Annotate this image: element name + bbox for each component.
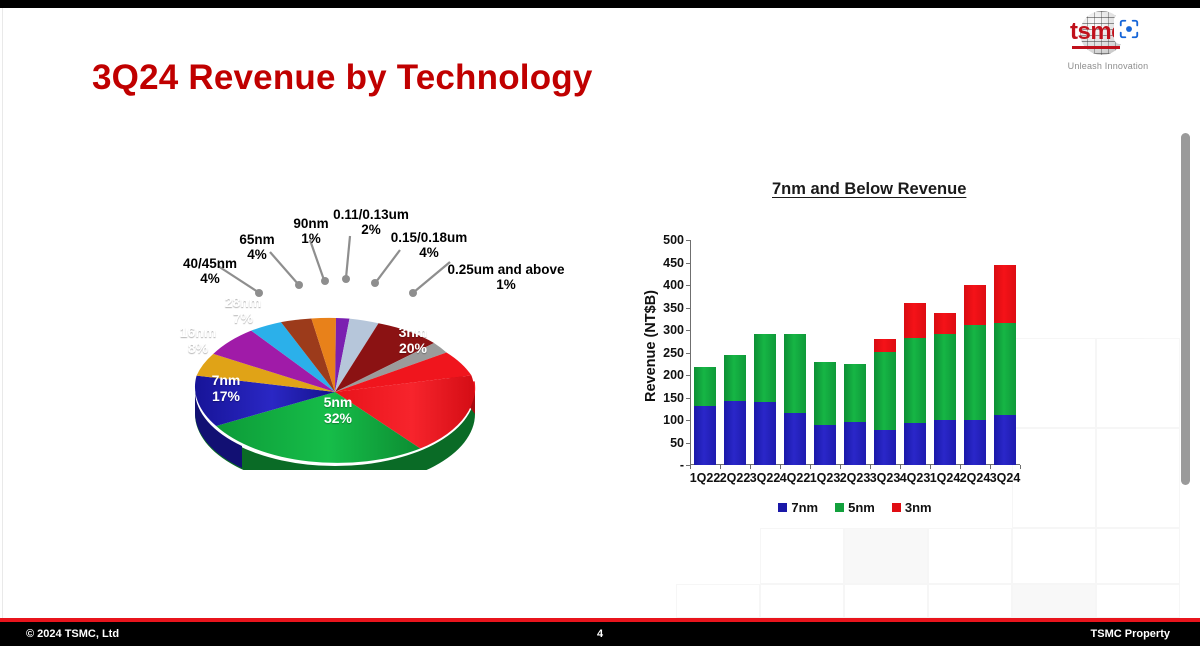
bar-segment-7nm: [964, 420, 986, 465]
x-axis-tick-label-2q24: 2Q24: [960, 471, 991, 485]
x-axis-tick-mark: [1020, 465, 1021, 469]
bar-segment-7nm: [874, 430, 896, 465]
bar-segment-3nm: [904, 303, 926, 338]
bar-column-1q22[interactable]: [694, 367, 716, 465]
bar-segment-5nm: [904, 338, 926, 423]
x-axis-tick-label-4q22: 4Q22: [780, 471, 811, 485]
pie-label-5nm: 5nm32%: [305, 395, 371, 426]
bar-segment-5nm: [754, 334, 776, 402]
pie-chart-revenue-by-technology: 40/45nm4% 65nm4% 90nm1% 0.11/0.13um2% 0.…: [150, 200, 590, 470]
pie-label-28nm: 28nm7%: [212, 295, 274, 326]
y-axis-tick-label: 500: [663, 233, 684, 247]
bar-segment-7nm: [694, 406, 716, 465]
legend-swatch-3nm: [892, 503, 901, 512]
y-axis-tick-mark: [686, 240, 690, 241]
x-axis-tick-label-3q22: 3Q22: [750, 471, 781, 485]
bar-segment-7nm: [844, 422, 866, 465]
pie-label-025um-and-above: 0.25um and above1%: [422, 262, 590, 292]
bar-segment-5nm: [694, 367, 716, 406]
pie-label-015-018um: 0.15/0.18um4%: [370, 230, 488, 260]
bar-segment-7nm: [904, 423, 926, 465]
pie-label-16nm: 16nm8%: [167, 325, 229, 356]
y-axis-tick-mark: [686, 375, 690, 376]
window-top-bar: [0, 0, 1200, 8]
bar-chart-plot-area: -501001502002503003504004505001Q222Q223Q…: [690, 240, 1020, 465]
bar-segment-7nm: [814, 425, 836, 465]
legend-label-5nm: 5nm: [848, 500, 875, 515]
bar-segment-7nm: [754, 402, 776, 465]
y-axis-tick-label: 250: [663, 346, 684, 360]
bar-chart-legend: 7nm 5nm 3nm: [690, 500, 1020, 515]
bar-column-2q24[interactable]: [964, 285, 986, 465]
y-axis-line: [690, 240, 691, 465]
y-axis-tick-label: -: [680, 458, 684, 472]
bar-segment-5nm: [964, 325, 986, 420]
bar-column-3q23[interactable]: [874, 339, 896, 465]
x-axis-tick-mark: [780, 465, 781, 469]
y-axis-tick-mark: [686, 353, 690, 354]
logo-tagline: Unleash Innovation: [1052, 61, 1164, 71]
y-axis-tick-label: 450: [663, 256, 684, 270]
bar-column-2q22[interactable]: [724, 355, 746, 465]
scrollbar-thumb[interactable]: [1181, 133, 1190, 485]
y-axis-tick-label: 350: [663, 301, 684, 315]
bar-segment-3nm: [934, 313, 956, 334]
bar-column-2q23[interactable]: [844, 364, 866, 465]
bar-segment-5nm: [874, 352, 896, 430]
legend-swatch-5nm: [835, 503, 844, 512]
y-axis-tick-mark: [686, 308, 690, 309]
y-axis-tick-mark: [686, 443, 690, 444]
page-title: 3Q24 Revenue by Technology: [92, 58, 593, 98]
tsmc-logo: tsmc Unleash Innovation: [1052, 10, 1164, 78]
pie-label-7nm: 7nm17%: [193, 373, 259, 404]
y-axis-tick-mark: [686, 420, 690, 421]
bar-segment-7nm: [784, 413, 806, 465]
x-axis-tick-label-1q24: 1Q24: [930, 471, 961, 485]
bar-segment-3nm: [994, 265, 1016, 324]
scrollbar-track[interactable]: [1183, 8, 1196, 618]
bar-segment-5nm: [994, 323, 1016, 415]
y-axis-tick-label: 150: [663, 391, 684, 405]
x-axis-tick-mark: [810, 465, 811, 469]
x-axis-tick-mark: [690, 465, 691, 469]
bar-chart-y-axis-label: Revenue (NT$B): [643, 271, 659, 421]
legend-swatch-7nm: [778, 503, 787, 512]
legend-item-7nm: 7nm: [778, 500, 818, 515]
y-axis-tick-label: 100: [663, 413, 684, 427]
x-axis-tick-mark: [960, 465, 961, 469]
bar-chart-title: 7nm and Below Revenue: [772, 180, 966, 199]
footer-property: TSMC Property: [1091, 628, 1170, 640]
bar-segment-5nm: [784, 334, 806, 413]
bar-segment-3nm: [874, 339, 896, 352]
bar-segment-5nm: [934, 334, 956, 420]
y-axis-tick-mark: [686, 330, 690, 331]
bar-segment-7nm: [994, 415, 1016, 465]
x-axis-tick-label-2q22: 2Q22: [720, 471, 751, 485]
slide-page: tsmc Unleash Innovation 3Q24 Revenue by …: [0, 0, 1200, 646]
bar-chart-7nm-and-below-revenue: 7nm and Below Revenue Revenue (NT$B) -50…: [612, 170, 1032, 530]
y-axis-tick-mark: [686, 285, 690, 286]
y-axis-tick-label: 50: [670, 436, 684, 450]
y-axis-tick-mark: [686, 263, 690, 264]
legend-item-3nm: 3nm: [892, 500, 932, 515]
bar-column-4q22[interactable]: [784, 334, 806, 465]
legend-label-7nm: 7nm: [791, 500, 818, 515]
bar-segment-5nm: [844, 364, 866, 423]
legend-label-3nm: 3nm: [905, 500, 932, 515]
x-axis-tick-mark: [990, 465, 991, 469]
x-axis-tick-label-1q22: 1Q22: [690, 471, 721, 485]
bar-segment-5nm: [814, 362, 836, 425]
x-axis-tick-mark: [870, 465, 871, 469]
x-axis-tick-mark: [930, 465, 931, 469]
bar-column-1q23[interactable]: [814, 362, 836, 465]
pie-label-3nm: 3nm20%: [380, 325, 446, 356]
footer-page-number: 4: [0, 628, 1200, 640]
bar-segment-5nm: [724, 355, 746, 401]
x-axis-tick-label-4q23: 4Q23: [900, 471, 931, 485]
bar-segment-3nm: [964, 285, 986, 326]
y-axis-tick-label: 300: [663, 323, 684, 337]
slide-footer: © 2024 TSMC, Ltd 4 TSMC Property: [0, 618, 1200, 646]
bar-column-3q24[interactable]: [994, 265, 1016, 465]
legend-item-5nm: 5nm: [835, 500, 875, 515]
tsmc-wordmark-underline: [1072, 46, 1120, 49]
x-axis-tick-mark: [750, 465, 751, 469]
y-axis-tick-label: 200: [663, 368, 684, 382]
window-left-edge: [0, 8, 3, 618]
bar-column-1q24[interactable]: [934, 313, 956, 465]
tsmc-logo-mark: tsmc: [1052, 10, 1164, 58]
x-axis-tick-label-3q24: 3Q24: [990, 471, 1021, 485]
x-axis-tick-mark: [840, 465, 841, 469]
bar-segment-7nm: [724, 401, 746, 465]
y-axis-tick-label: 400: [663, 278, 684, 292]
bar-segment-7nm: [934, 420, 956, 465]
bar-column-4q23[interactable]: [904, 303, 926, 465]
scan-capture-icon[interactable]: [1114, 14, 1144, 44]
x-axis-tick-label-2q23: 2Q23: [840, 471, 871, 485]
y-axis-tick-mark: [686, 398, 690, 399]
bar-column-3q22[interactable]: [754, 334, 776, 465]
x-axis-tick-mark: [900, 465, 901, 469]
x-axis-tick-mark: [720, 465, 721, 469]
x-axis-tick-label-1q23: 1Q23: [810, 471, 841, 485]
x-axis-tick-label-3q23: 3Q23: [870, 471, 901, 485]
